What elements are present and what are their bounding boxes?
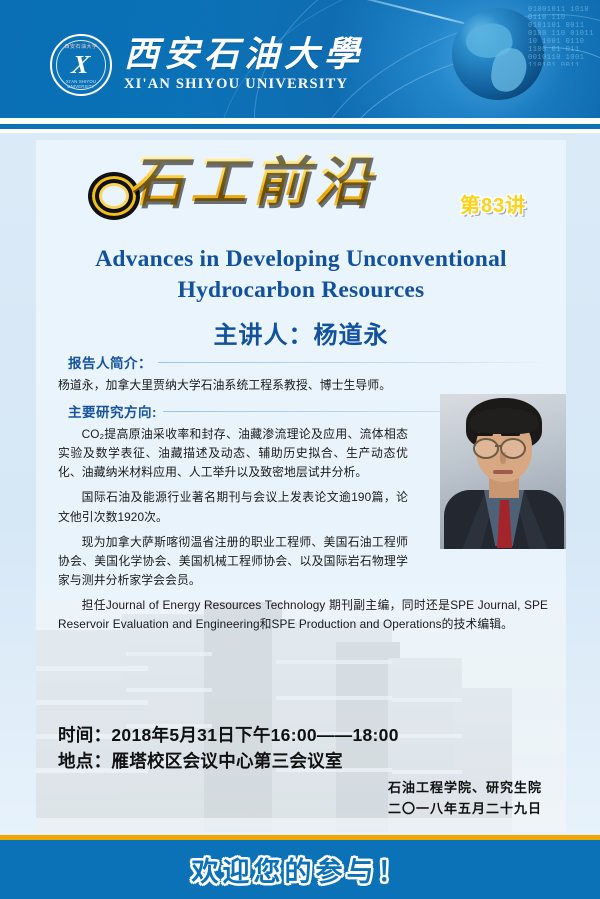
lecture-title-english: Advances in Developing Unconventional Hy… <box>36 244 566 307</box>
section-label-research: 主要研究方向: <box>68 401 157 421</box>
lecture-title-english-line2: Hydrocarbon Resources <box>36 275 566 306</box>
signoff-date: 二〇一八年五月二十九日 <box>36 799 542 820</box>
section-rule-bio <box>158 362 548 363</box>
university-logo: 西安石油大学 X XI'AN SHIYOU UNIVERSITY 西安石油大學 … <box>50 34 364 96</box>
event-time: 时间：2018年5月31日下午16:00——18:00 <box>58 722 548 748</box>
speaker-portrait <box>440 394 566 549</box>
signoff-organizers: 石油工程学院、研究生院 <box>36 778 542 799</box>
university-name-en: XI'AN SHIYOU UNIVERSITY <box>124 76 364 93</box>
poster-header: 01001011 1010 0110 110 0101101 0011 0100… <box>0 0 600 118</box>
university-name-cn: 西安石油大學 <box>124 37 364 74</box>
section-label-bio: 报告人简介： <box>68 352 152 372</box>
paragraph-bio: 杨道永，加拿大里贾纳大学石油系统工程系教授、博士生导师。 <box>58 376 393 395</box>
lecture-title-english-line1: Advances in Developing Unconventional <box>36 244 566 275</box>
content-panel: 石工前沿 石工前沿 第83讲 Advances in Developing Un… <box>36 140 566 832</box>
paragraph-research: CO₂提高原油采收率和封存、油藏渗流理论及应用、流体相态实验及数学表征、油藏描述… <box>58 425 408 482</box>
section-header-bio: 报告人简介： <box>68 352 548 372</box>
footer-welcome-text: 欢迎您的参与！ <box>192 850 409 889</box>
series-title: 石工前沿 <box>128 154 376 210</box>
event-details: 时间：2018年5月31日下午16:00——18:00 地点：雁塔校区会议中心第… <box>58 722 548 775</box>
university-wordmark: 西安石油大學 XI'AN SHIYOU UNIVERSITY <box>124 37 364 93</box>
paragraph-memberships: 现为加拿大萨斯喀彻温省注册的职业工程师、美国石油工程师协会、美国化学协会、美国机… <box>58 533 408 590</box>
speaker-name: 主讲人：杨道永 <box>36 315 566 350</box>
poster-footer: 欢迎您的参与！ <box>0 840 600 899</box>
poster: 01001011 1010 0110 110 0101101 0011 0100… <box>0 0 600 899</box>
university-seal-icon: 西安石油大学 X XI'AN SHIYOU UNIVERSITY <box>50 34 112 96</box>
seal-top-text: 西安石油大学 <box>52 43 110 50</box>
paragraph-editorial: 担任Journal of Energy Resources Technology… <box>58 596 548 634</box>
paragraph-publications: 国际石油及能源行业著名期刊与会议上发表论文逾190篇，论文他引次数1920次。 <box>58 488 408 526</box>
content-body: 报告人简介： 杨道永，加拿大里贾纳大学石油系统工程系教授、博士生导师。 主要研究… <box>58 352 548 640</box>
lecture-number-badge: 第83讲 <box>460 196 526 216</box>
seal-monogram: X <box>71 52 92 78</box>
signoff-block: 石油工程学院、研究生院 二〇一八年五月二十九日 <box>36 778 542 820</box>
seal-bottom-text: XI'AN SHIYOU UNIVERSITY <box>52 79 110 89</box>
binary-texture: 01001011 1010 0110 110 0101101 0011 0100… <box>528 6 598 66</box>
event-location: 地点：雁塔校区会议中心第三会议室 <box>58 748 548 774</box>
series-title-block: 石工前沿 石工前沿 第83讲 <box>36 148 566 240</box>
